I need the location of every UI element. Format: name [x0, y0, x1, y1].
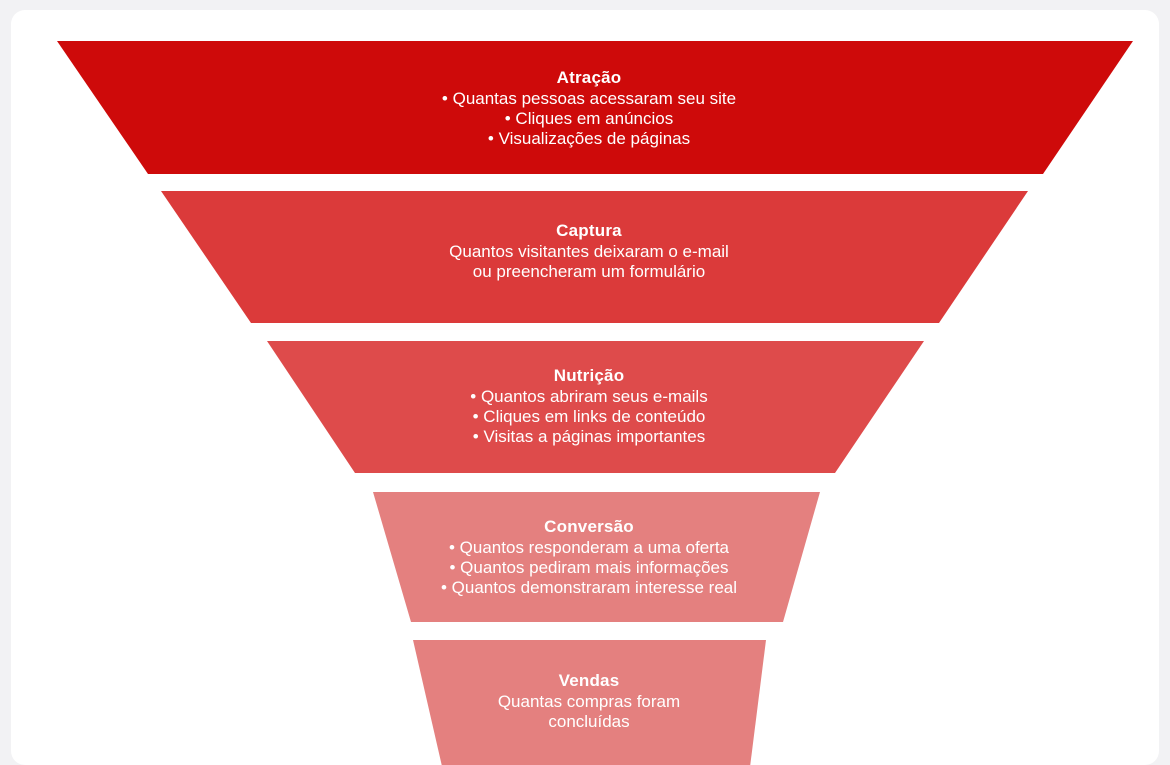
funnel-shapes	[11, 10, 1159, 765]
funnel-stage-shape-vendas[interactable]	[413, 640, 766, 765]
funnel-stage-shape-conversao[interactable]	[373, 492, 820, 622]
funnel-stage-shape-atracao[interactable]	[57, 41, 1133, 174]
funnel-stage-shape-captura[interactable]	[161, 191, 1028, 323]
white-card-background: Atração • Quantas pessoas acessaram seu …	[11, 10, 1159, 765]
funnel-diagram-canvas: Atração • Quantas pessoas acessaram seu …	[0, 0, 1170, 765]
funnel-stage-shape-nutricao[interactable]	[267, 341, 924, 473]
